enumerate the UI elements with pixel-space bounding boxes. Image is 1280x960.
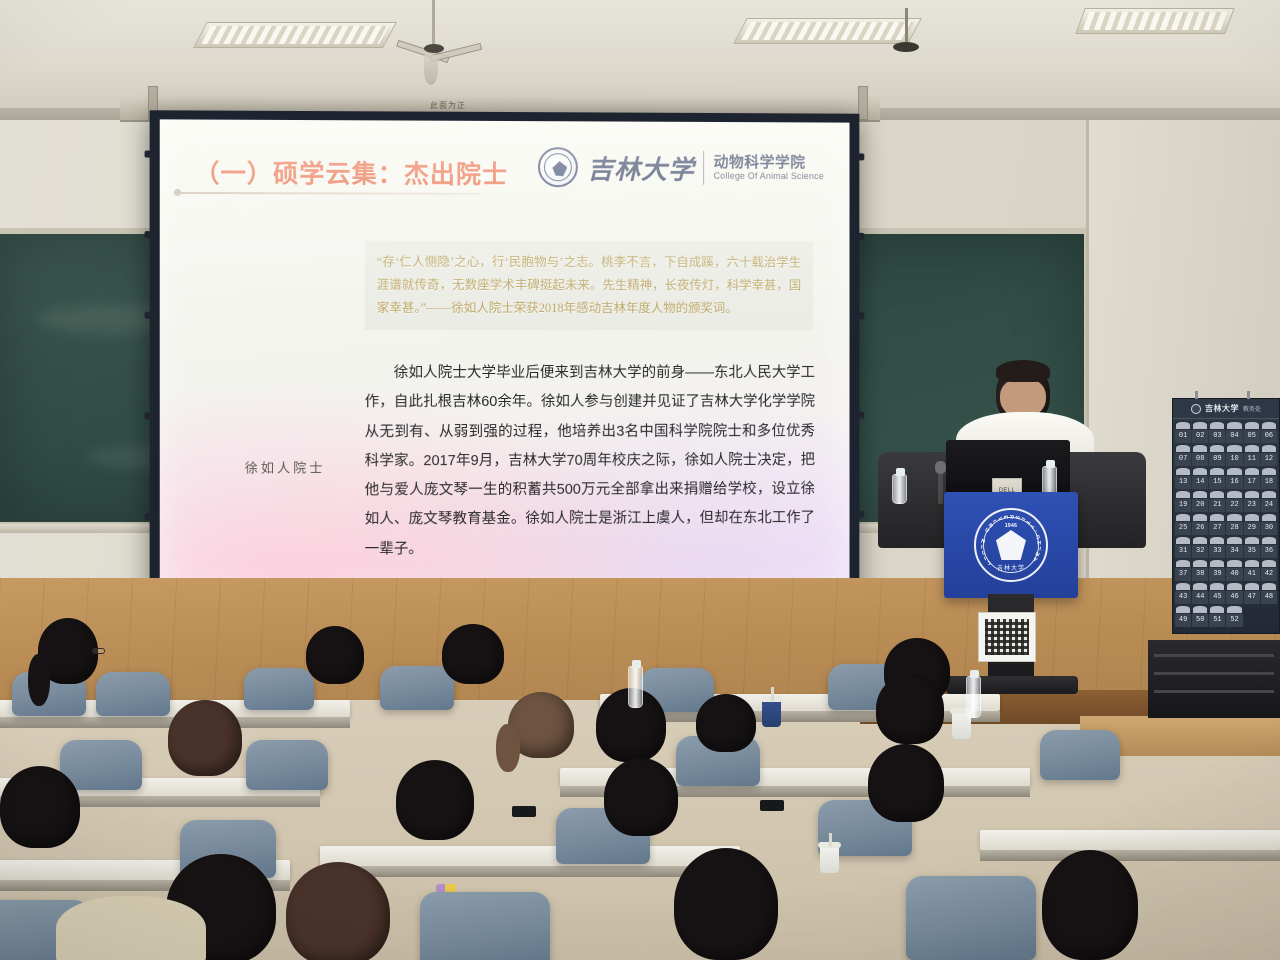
key-slot-number: 31 <box>1175 547 1191 555</box>
key-slot[interactable]: 11 <box>1244 444 1260 466</box>
key-slot-number: 37 <box>1175 570 1191 578</box>
key-slot-number: 16 <box>1226 478 1242 486</box>
key-slot-number: 51 <box>1209 616 1225 624</box>
key-slot[interactable]: 32 <box>1192 536 1208 558</box>
jilin-university-seal-icon <box>538 147 578 187</box>
key-slot[interactable]: 04 <box>1226 421 1242 443</box>
podium-emblem-cn: 吉林大学 <box>997 563 1025 572</box>
water-bottle <box>628 666 643 708</box>
title-underline <box>178 192 480 195</box>
key-slot-number: 13 <box>1175 478 1191 486</box>
key-slot[interactable]: 44 <box>1192 582 1208 604</box>
chair <box>244 668 314 710</box>
chair <box>96 672 170 716</box>
key-slot[interactable]: 20 <box>1192 490 1208 512</box>
key-slot-number: 42 <box>1261 570 1277 578</box>
ceiling-light <box>1075 8 1234 34</box>
qr-code-sign <box>978 612 1036 662</box>
key-slot-number: 46 <box>1226 593 1242 601</box>
key-slot-number: 14 <box>1192 478 1208 486</box>
key-slot[interactable]: 34 <box>1226 536 1242 558</box>
key-slot[interactable]: 02 <box>1192 421 1208 443</box>
key-slot-number: 01 <box>1175 432 1191 440</box>
student-head <box>306 626 364 684</box>
key-slot[interactable]: 08 <box>1192 444 1208 466</box>
equipment-rack <box>1148 640 1280 718</box>
chair <box>1040 730 1120 780</box>
key-slot[interactable]: 35 <box>1244 536 1260 558</box>
key-slot[interactable]: 13 <box>1175 467 1191 489</box>
key-slot-number: 39 <box>1209 570 1225 578</box>
key-slot-number: 07 <box>1175 455 1191 463</box>
key-slot[interactable]: 24 <box>1261 490 1277 512</box>
key-slot[interactable]: 40 <box>1226 559 1242 581</box>
desk-row <box>980 830 1280 850</box>
key-slot-number: 43 <box>1175 593 1191 601</box>
student-head <box>674 848 778 960</box>
key-slot-number: 05 <box>1244 432 1260 440</box>
chair <box>246 740 328 790</box>
key-slot[interactable]: 47 <box>1244 582 1260 604</box>
chair <box>420 892 550 960</box>
key-slot-number: 36 <box>1261 547 1277 555</box>
key-slot[interactable]: 26 <box>1192 513 1208 535</box>
key-slot[interactable]: 39 <box>1209 559 1225 581</box>
key-slot-number: 09 <box>1209 455 1225 463</box>
chair <box>380 666 454 710</box>
key-slot[interactable]: 29 <box>1244 513 1260 535</box>
smartphone[interactable] <box>760 800 784 811</box>
roller-label: 此面为正 <box>430 100 466 111</box>
slide-canvas: （一）硕学云集：杰出院士 吉林大学 动物科学学院 College Of Anim… <box>160 119 850 596</box>
key-cabinet-subtitle: 教务处 <box>1243 404 1261 413</box>
key-slot[interactable]: 17 <box>1244 467 1260 489</box>
glasses-icon <box>92 648 105 654</box>
slide-body-paragraph: 徐如人院士大学毕业后便来到吉林大学的前身——东北人民大学工作，自此扎根吉林60余… <box>365 359 815 565</box>
key-slot-number: 02 <box>1192 432 1208 440</box>
key-slot[interactable]: 28 <box>1226 513 1242 535</box>
key-slot-number: 20 <box>1192 501 1208 509</box>
key-slot-number: 38 <box>1192 570 1208 578</box>
key-slot[interactable]: 51 <box>1209 605 1225 627</box>
key-slot[interactable]: 37 <box>1175 559 1191 581</box>
student-head <box>442 624 504 684</box>
key-slot[interactable]: 05 <box>1244 421 1260 443</box>
key-cabinet-header: 吉林大学 教务处 <box>1173 399 1279 419</box>
key-slot[interactable]: 18 <box>1261 467 1277 489</box>
university-logo: 吉林大学 动物科学学院 College Of Animal Science <box>538 147 823 188</box>
student-head <box>168 700 242 776</box>
key-slot[interactable]: 23 <box>1244 490 1260 512</box>
student-head <box>0 766 80 848</box>
ceiling-fan-rod <box>905 8 908 44</box>
ceiling-fan-hub <box>893 42 919 52</box>
key-slot[interactable]: 49 <box>1175 605 1191 627</box>
key-slot[interactable]: 46 <box>1226 582 1242 604</box>
portrait-caption: 徐如人院士 <box>245 457 326 476</box>
key-slot-number: 48 <box>1261 593 1277 601</box>
key-slot-number: 40 <box>1226 570 1242 578</box>
student-ponytail <box>28 654 50 706</box>
student-ponytail <box>496 724 520 772</box>
logo-college-cn: 动物科学学院 <box>714 154 824 171</box>
key-slot-number: 41 <box>1244 570 1260 578</box>
key-slot-number: 29 <box>1244 524 1260 532</box>
key-slot-number: 03 <box>1209 432 1225 440</box>
key-slot[interactable]: 21 <box>1209 490 1225 512</box>
key-slot-number: 26 <box>1192 524 1208 532</box>
water-bottle <box>892 474 907 504</box>
key-slot-number: 12 <box>1261 455 1277 463</box>
key-slot-number: 27 <box>1209 524 1225 532</box>
key-slot-number: 33 <box>1209 547 1225 555</box>
slide-title: （一）硕学云集：杰出院士 <box>194 154 508 191</box>
key-slot[interactable]: 30 <box>1261 513 1277 535</box>
key-slot[interactable]: 45 <box>1209 582 1225 604</box>
smartphone[interactable] <box>512 806 536 817</box>
student-head <box>868 744 944 822</box>
key-cabinet[interactable]: 吉林大学 教务处 0102030405060708091011121314151… <box>1172 398 1280 634</box>
key-slot-number: 04 <box>1226 432 1242 440</box>
key-slot[interactable]: 52 <box>1226 605 1242 627</box>
student-head <box>876 674 944 744</box>
drink-cup <box>820 846 839 873</box>
key-slot-number: 30 <box>1261 524 1277 532</box>
logo-divider <box>704 151 705 185</box>
ceiling-fan-drop <box>424 55 438 85</box>
key-cabinet-title: 吉林大学 <box>1205 403 1239 414</box>
key-slot-number: 44 <box>1192 593 1208 601</box>
key-slot-number: 21 <box>1209 501 1225 509</box>
key-slot[interactable]: 38 <box>1192 559 1208 581</box>
ceiling-light <box>193 22 397 48</box>
desk-row <box>320 846 740 866</box>
key-slot-number: 24 <box>1261 501 1277 509</box>
logo-college-en: College Of Animal Science <box>714 171 824 181</box>
key-slot-number: 10 <box>1226 455 1242 463</box>
microphone-icon <box>938 470 943 504</box>
speaker-hair <box>996 360 1050 382</box>
chair <box>906 876 1036 960</box>
qr-code-icon <box>985 619 1029 655</box>
lecture-hall-photo: 此面为正 （一）硕学云集：杰出院士 吉林大学 动物科学学院 College Of… <box>0 0 1280 960</box>
ceiling-fan-rod <box>432 0 435 48</box>
key-slot-number: 08 <box>1192 455 1208 463</box>
key-slot[interactable]: 42 <box>1261 559 1277 581</box>
key-slot[interactable]: 50 <box>1192 605 1208 627</box>
key-slot-number: 47 <box>1244 593 1260 601</box>
podium-front-panel: JILIN UNIVERSITY·CHINA 1946 吉林大学 <box>944 492 1078 598</box>
key-slot[interactable]: 48 <box>1261 582 1277 604</box>
projection-screen: （一）硕学云集：杰出院士 吉林大学 动物科学学院 College Of Anim… <box>150 110 860 606</box>
water-bottle <box>966 676 981 718</box>
key-slot-number: 18 <box>1261 478 1277 486</box>
key-slot[interactable]: 16 <box>1226 467 1242 489</box>
key-slot[interactable]: 22 <box>1226 490 1242 512</box>
key-slot[interactable]: 01 <box>1175 421 1191 443</box>
ceiling-fan-hub <box>424 44 444 53</box>
ceiling-light <box>733 18 922 44</box>
key-slot[interactable]: 19 <box>1175 490 1191 512</box>
key-slot[interactable]: 33 <box>1209 536 1225 558</box>
key-slot-number: 35 <box>1244 547 1260 555</box>
podium-emblem: JILIN UNIVERSITY·CHINA 1946 吉林大学 <box>974 508 1048 582</box>
podium-emblem-year: 1946 <box>1005 523 1017 529</box>
key-slot[interactable]: 31 <box>1175 536 1191 558</box>
key-slot-number: 50 <box>1192 616 1208 624</box>
key-slot[interactable]: 07 <box>1175 444 1191 466</box>
key-slot[interactable]: 09 <box>1209 444 1225 466</box>
key-slot-number: 06 <box>1261 432 1277 440</box>
key-slot[interactable]: 06 <box>1261 421 1277 443</box>
award-citation-quote: “存‘仁人恻隐’之心，行‘民胞物与’之志。桃李不言，下自成蹊，六十载治学生涯谱就… <box>365 241 813 331</box>
student-head <box>286 862 390 960</box>
key-slot-number: 49 <box>1175 616 1191 624</box>
key-slot-number: 34 <box>1226 547 1242 555</box>
key-slot[interactable]: 03 <box>1209 421 1225 443</box>
key-slot-number: 52 <box>1226 616 1242 624</box>
key-slot-number: 17 <box>1244 478 1260 486</box>
title-bullet-dot <box>174 189 181 196</box>
key-slot[interactable]: 14 <box>1192 467 1208 489</box>
key-slot-number: 19 <box>1175 501 1191 509</box>
key-slot-number: 22 <box>1226 501 1242 509</box>
student-head <box>396 760 474 840</box>
student-shoulders <box>56 896 206 960</box>
key-slot-number: 25 <box>1175 524 1191 532</box>
key-slot-number: 45 <box>1209 593 1225 601</box>
key-slot-number: 11 <box>1244 455 1260 463</box>
key-slot-number: 15 <box>1209 478 1225 486</box>
key-slot[interactable]: 25 <box>1175 513 1191 535</box>
roller-bracket <box>858 86 868 120</box>
key-slot[interactable]: 12 <box>1261 444 1277 466</box>
university-seal-icon <box>1191 404 1201 414</box>
key-slot[interactable]: 10 <box>1226 444 1242 466</box>
key-slot[interactable]: 41 <box>1244 559 1260 581</box>
logo-university-name: 吉林大学 <box>587 149 694 186</box>
key-slot[interactable]: 43 <box>1175 582 1191 604</box>
key-slot[interactable]: 15 <box>1209 467 1225 489</box>
student-head <box>604 758 678 836</box>
student-head <box>1042 850 1138 960</box>
student-head <box>696 694 756 752</box>
key-slot[interactable]: 36 <box>1261 536 1277 558</box>
key-slot-number: 32 <box>1192 547 1208 555</box>
key-cabinet-slot-grid: 0102030405060708091011121314151617181920… <box>1173 419 1279 629</box>
key-slot[interactable]: 27 <box>1209 513 1225 535</box>
drink-cup <box>762 700 781 727</box>
key-slot-number: 23 <box>1244 501 1260 509</box>
key-slot-number: 28 <box>1226 524 1242 532</box>
